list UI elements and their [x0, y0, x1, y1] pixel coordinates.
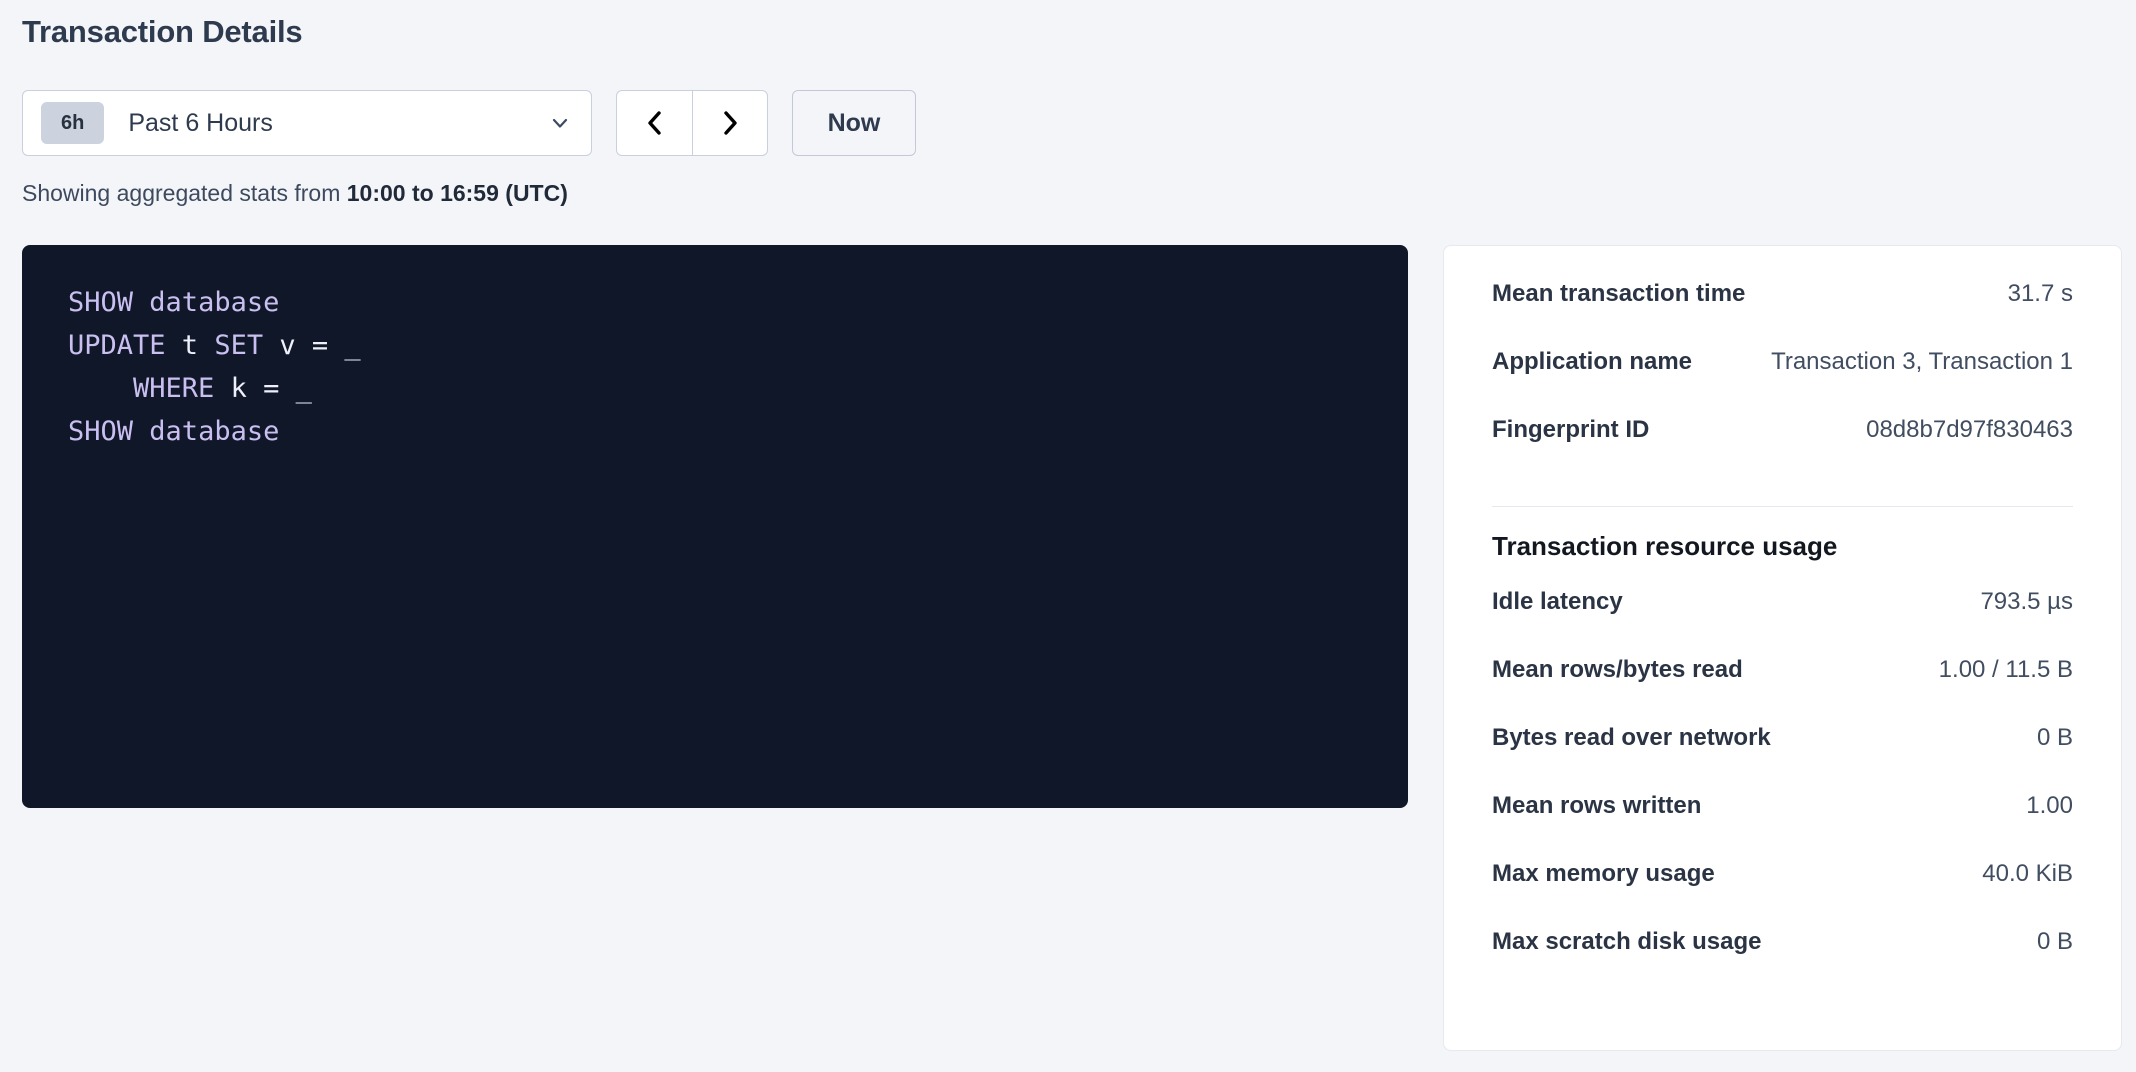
sql-keyword: database [149, 287, 279, 318]
time-range-label: Past 6 Hours [128, 109, 549, 138]
page-title: Transaction Details [22, 14, 302, 50]
section-divider [1492, 506, 2073, 507]
sql-keyword: SHOW [68, 416, 133, 447]
sql-identifier: t [166, 330, 215, 361]
stat-row: Fingerprint ID08d8b7d97f830463 [1492, 416, 2073, 484]
sql-identifier [68, 373, 133, 404]
aggregation-note: Showing aggregated stats from 10:00 to 1… [22, 180, 568, 207]
resource-stats-list: Idle latency793.5 µsMean rows/bytes read… [1492, 588, 2073, 996]
chevron-right-icon [716, 108, 744, 138]
sql-keyword: WHERE [133, 373, 214, 404]
stat-row: Bytes read over network0 B [1492, 724, 2073, 792]
stat-label: Mean rows written [1492, 792, 1701, 820]
sql-code-line: SHOW database [68, 281, 1362, 324]
chevron-left-icon [641, 108, 669, 138]
sql-identifier: v = _ [263, 330, 361, 361]
sql-keyword: SHOW [68, 287, 133, 318]
stat-value: 31.7 s [1994, 280, 2073, 308]
stat-label: Bytes read over network [1492, 724, 1771, 752]
stat-value: 0 B [2023, 724, 2073, 752]
sql-identifier [133, 416, 149, 447]
stat-row: Mean rows/bytes read1.00 / 11.5 B [1492, 656, 2073, 724]
stat-row: Max scratch disk usage0 B [1492, 928, 2073, 996]
summary-stats-list: Mean transaction time31.7 sApplication n… [1492, 280, 2073, 484]
stat-label: Mean rows/bytes read [1492, 656, 1743, 684]
sql-identifier: k = _ [214, 373, 312, 404]
sql-code-line: WHERE k = _ [68, 367, 1362, 410]
sql-keyword: database [149, 416, 279, 447]
aggregation-note-prefix: Showing aggregated stats from [22, 180, 347, 206]
sql-keyword: SET [214, 330, 263, 361]
stat-row: Max memory usage40.0 KiB [1492, 860, 2073, 928]
time-range-select[interactable]: 6h Past 6 Hours [22, 90, 592, 156]
stat-label: Fingerprint ID [1492, 416, 1649, 444]
sql-code-line: UPDATE t SET v = _ [68, 324, 1362, 367]
chevron-down-icon [549, 112, 571, 134]
sql-identifier [133, 287, 149, 318]
time-nav-group [616, 90, 768, 156]
time-range-controls: 6h Past 6 Hours [22, 90, 916, 156]
transaction-detail-panel: Mean transaction time31.7 sApplication n… [1443, 245, 2122, 1051]
stat-label: Application name [1492, 348, 1692, 376]
sql-code-line: SHOW database [68, 410, 1362, 453]
aggregation-note-range: 10:00 to 16:59 (UTC) [347, 180, 568, 206]
stat-row: Mean rows written1.00 [1492, 792, 2073, 860]
stat-label: Max scratch disk usage [1492, 928, 1761, 956]
time-range-badge: 6h [41, 102, 104, 144]
next-period-button[interactable] [692, 90, 768, 156]
sql-code-lines: SHOW databaseUPDATE t SET v = _ WHERE k … [68, 281, 1362, 453]
resource-usage-heading: Transaction resource usage [1492, 531, 2073, 562]
stat-value: 1.00 / 11.5 B [1925, 656, 2073, 684]
stat-label: Idle latency [1492, 588, 1623, 616]
stat-value: 793.5 µs [1966, 588, 2073, 616]
stat-value: 40.0 KiB [1968, 860, 2073, 888]
stat-label: Mean transaction time [1492, 280, 1745, 308]
previous-period-button[interactable] [616, 90, 692, 156]
sql-code-panel[interactable]: SHOW databaseUPDATE t SET v = _ WHERE k … [22, 245, 1408, 808]
stat-row: Mean transaction time31.7 s [1492, 280, 2073, 348]
stat-row: Idle latency793.5 µs [1492, 588, 2073, 656]
stat-value: 1.00 [2012, 792, 2073, 820]
stat-value: 08d8b7d97f830463 [1852, 416, 2073, 444]
stat-value: Transaction 3, Transaction 1 [1757, 348, 2073, 376]
transaction-details-page: Transaction Details 6h Past 6 Hours [0, 0, 2136, 1072]
stat-row: Application nameTransaction 3, Transacti… [1492, 348, 2073, 416]
stat-value: 0 B [2023, 928, 2073, 956]
now-button[interactable]: Now [792, 90, 916, 156]
sql-keyword: UPDATE [68, 330, 166, 361]
stat-label: Max memory usage [1492, 860, 1715, 888]
